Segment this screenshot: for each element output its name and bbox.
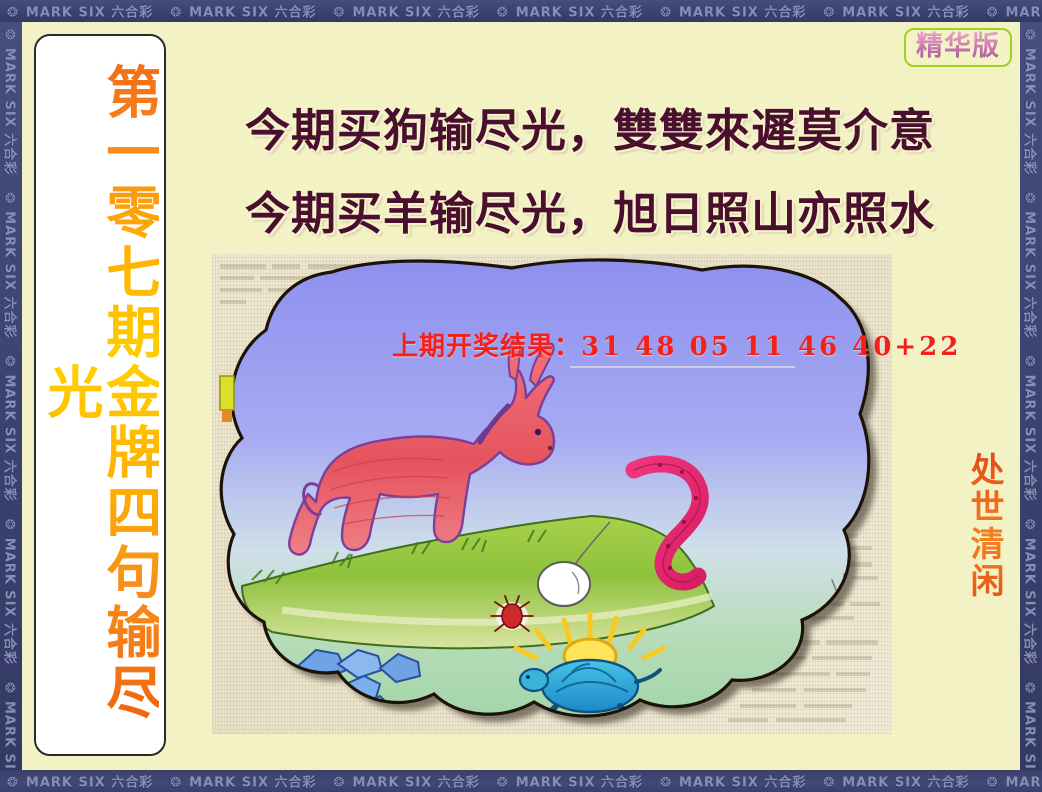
border-pattern-label: MARK SIX 六合彩	[2, 538, 17, 665]
border-pattern-label: MARK SIX 六合彩	[842, 776, 969, 791]
border-pattern-label: MARK SIX 六合彩	[516, 6, 643, 21]
flower-cluster-icon: ❂	[497, 6, 509, 21]
border-pattern-bottom: ❂MARK SIX 六合彩❂MARK SIX 六合彩❂MARK SIX 六合彩❂…	[0, 772, 1042, 791]
border-pattern-label: MARK SIX 六合彩	[1006, 776, 1042, 791]
issue-title-card: 第一零七期金牌四句输尽光	[34, 34, 166, 756]
border-pattern-label: MARK SIX 六合彩	[2, 48, 17, 175]
edition-badge-label: 精华版	[916, 31, 1000, 62]
poster-root: ❂MARK SIX 六合彩❂MARK SIX 六合彩❂MARK SIX 六合彩❂…	[0, 0, 1042, 792]
border-pattern-label: MARK SIX 六合彩	[26, 776, 153, 791]
flower-cluster-icon: ❂	[987, 776, 999, 791]
border-pattern-label: MARK SIX 六合彩	[352, 776, 479, 791]
border-band-left: ❂MARK SIX 六合彩❂MARK SIX 六合彩❂MARK SIX 六合彩❂…	[0, 22, 22, 770]
flower-cluster-icon: ❂	[1022, 29, 1037, 41]
border-pattern-label: MARK SIX 六合彩	[1022, 211, 1037, 338]
border-pattern-label: MARK SIX 六合彩	[1022, 48, 1037, 175]
border-pattern-top: ❂MARK SIX 六合彩❂MARK SIX 六合彩❂MARK SIX 六合彩❂…	[0, 2, 1042, 21]
content-panel: 第一零七期金牌四句输尽光 精华版 今期买狗输尽光，雙雙來遲莫介意 今期买羊输尽光…	[22, 22, 1020, 770]
border-band-top: ❂MARK SIX 六合彩❂MARK SIX 六合彩❂MARK SIX 六合彩❂…	[0, 0, 1042, 22]
left-edge-marker	[220, 376, 234, 422]
border-pattern-label: MARK SIX 六合彩	[1022, 701, 1037, 770]
border-pattern-label: MARK SIX 六合彩	[2, 211, 17, 338]
flower-cluster-icon: ❂	[987, 6, 999, 21]
flower-cluster-icon: ❂	[7, 6, 19, 21]
border-pattern-label: MARK SIX 六合彩	[1022, 374, 1037, 501]
edition-badge: 精华版	[904, 28, 1012, 67]
flower-cluster-icon: ❂	[334, 6, 346, 21]
flower-cluster-icon: ❂	[2, 519, 17, 531]
flower-cluster-icon: ❂	[1022, 192, 1037, 204]
headline-line-2: 今期买羊输尽光，旭日照山亦照水	[190, 177, 990, 242]
flower-cluster-icon: ❂	[823, 776, 835, 791]
border-pattern-label: MARK SIX 六合彩	[352, 6, 479, 21]
border-pattern-label: MARK SIX 六合彩	[189, 776, 316, 791]
lottery-label: 上期开奖结果：	[392, 332, 581, 362]
flower-cluster-icon: ❂	[823, 6, 835, 21]
flower-cluster-icon: ❂	[2, 192, 17, 204]
flower-cluster-icon: ❂	[170, 6, 182, 21]
border-band-bottom: ❂MARK SIX 六合彩❂MARK SIX 六合彩❂MARK SIX 六合彩❂…	[0, 770, 1042, 792]
flower-cluster-icon: ❂	[1022, 682, 1037, 694]
border-pattern-label: MARK SIX 六合彩	[842, 6, 969, 21]
border-pattern-label: MARK SIX 六合彩	[26, 6, 153, 21]
flower-cluster-icon: ❂	[1022, 519, 1037, 531]
flower-cluster-icon: ❂	[2, 29, 17, 41]
flower-cluster-icon: ❂	[170, 776, 182, 791]
flower-cluster-icon: ❂	[334, 776, 346, 791]
lottery-numbers: 31 48 05 11 46 40+22	[581, 332, 961, 362]
illustration: 上期开奖结果：31 48 05 11 46 40+22	[212, 254, 892, 734]
flower-cluster-icon: ❂	[660, 6, 672, 21]
border-pattern-label: MARK SIX 六合彩	[189, 6, 316, 21]
border-pattern-label: MARK SIX 六合彩	[1022, 538, 1037, 665]
lottery-result: 上期开奖结果：31 48 05 11 46 40+22	[392, 326, 961, 363]
flower-cluster-icon: ❂	[497, 776, 509, 791]
border-pattern-label: MARK SIX 六合彩	[516, 776, 643, 791]
border-band-right: ❂MARK SIX 六合彩❂MARK SIX 六合彩❂MARK SIX 六合彩❂…	[1020, 22, 1042, 770]
flower-cluster-icon: ❂	[2, 356, 17, 368]
border-pattern-label: MARK SIX 六合彩	[2, 701, 17, 770]
flower-cluster-icon: ❂	[660, 776, 672, 791]
border-pattern-label: MARK SIX 六合彩	[679, 6, 806, 21]
lottery-underline	[570, 366, 795, 368]
issue-title-text: 第一零七期金牌四句输尽光	[41, 48, 159, 738]
border-pattern-left: ❂MARK SIX 六合彩❂MARK SIX 六合彩❂MARK SIX 六合彩❂…	[2, 22, 21, 770]
flower-cluster-icon: ❂	[7, 776, 19, 791]
border-pattern-right: ❂MARK SIX 六合彩❂MARK SIX 六合彩❂MARK SIX 六合彩❂…	[1022, 22, 1041, 770]
flower-cluster-icon: ❂	[1022, 356, 1037, 368]
border-pattern-label: MARK SIX 六合彩	[2, 374, 17, 501]
motto-text: 处世清闲	[964, 452, 1004, 600]
flower-cluster-icon: ❂	[2, 682, 17, 694]
border-pattern-label: MARK SIX 六合彩	[1006, 6, 1042, 21]
border-pattern-label: MARK SIX 六合彩	[679, 776, 806, 791]
headline-line-1: 今期买狗输尽光，雙雙來遲莫介意	[190, 94, 990, 159]
